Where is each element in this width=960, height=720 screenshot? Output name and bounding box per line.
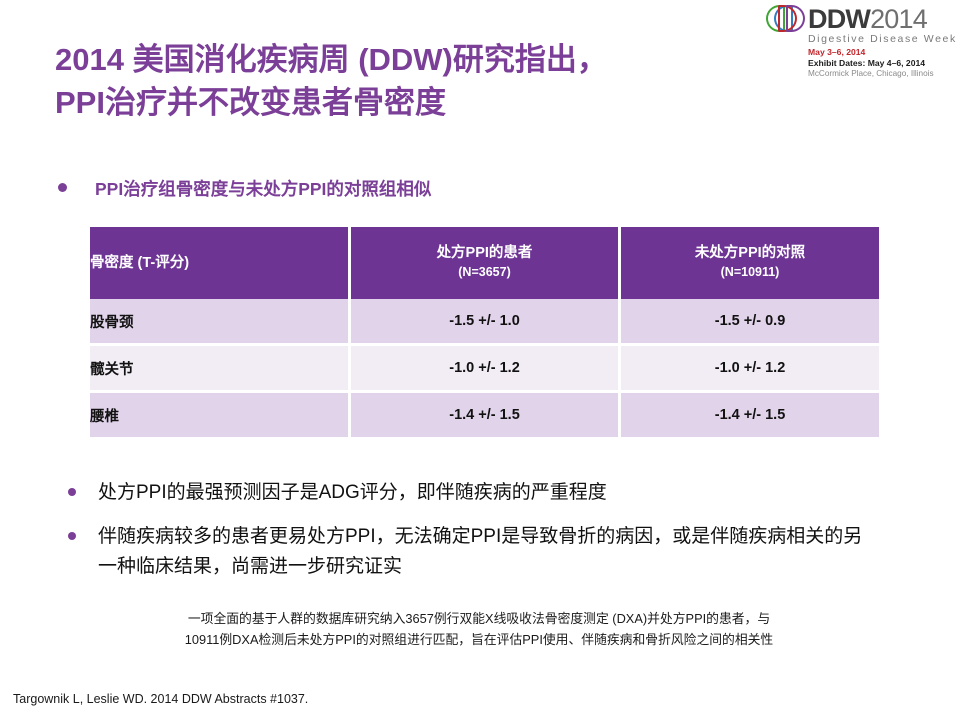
- ddw-logo: DDW2014 Digestive Disease Week May 3–6, …: [766, 4, 952, 70]
- table-header-ppi-n: (N=3657): [351, 263, 618, 282]
- table-row: 腰椎 -1.4 +/- 1.5 -1.4 +/- 1.5: [90, 392, 879, 438]
- logo-wordmark-main: DDW: [808, 4, 870, 34]
- footnote-line-2: 10911例DXA检测后未处方PPI的对照组进行匹配，旨在评估PPI使用、伴随疾…: [88, 629, 870, 650]
- top-bullet-label: PPI治疗组骨密度与未处方PPI的对照组相似: [95, 176, 431, 201]
- logo-top-row: DDW2014: [766, 4, 952, 34]
- page-title-line-1: 2014 美国消化疾病周 (DDW)研究指出，: [55, 38, 755, 81]
- table-cell-ppi: -1.4 +/- 1.5: [350, 392, 620, 438]
- logo-dates: May 3–6, 2014: [808, 47, 952, 57]
- table-row: 髋关节 -1.0 +/- 1.2 -1.0 +/- 1.2: [90, 345, 879, 392]
- table-header-cell-control: 未处方PPI的对照 (N=10911): [620, 227, 880, 299]
- table-body: 股骨颈 -1.5 +/- 1.0 -1.5 +/- 0.9 髋关节 -1.0 +…: [90, 299, 879, 437]
- logo-subtitle: Digestive Disease Week: [808, 33, 952, 45]
- table-header: 骨密度 (T-评分) 处方PPI的患者 (N=3657) 未处方PPI的对照 (…: [90, 227, 879, 299]
- table-header-control-label: 未处方PPI的对照: [621, 244, 879, 263]
- table-header-ppi-label: 处方PPI的患者: [351, 244, 618, 263]
- table-cell-control: -1.4 +/- 1.5: [620, 392, 880, 438]
- page-title-line-2: PPI治疗并不改变患者骨密度: [55, 81, 755, 124]
- lower-bullet-label: 伴随疾病较多的患者更易处方PPI，无法确定PPI是导致骨折的病因，或是伴随疾病相…: [98, 522, 878, 582]
- bmd-comparison-table: 骨密度 (T-评分) 处方PPI的患者 (N=3657) 未处方PPI的对照 (…: [90, 227, 879, 437]
- table-cell-control: -1.0 +/- 1.2: [620, 345, 880, 392]
- ddw-flower-mark-icon: [766, 5, 804, 33]
- table-header-cell-measure: 骨密度 (T-评分): [90, 227, 350, 299]
- bullet-dot-icon: [68, 532, 76, 540]
- page-title: 2014 美国消化疾病周 (DDW)研究指出， PPI治疗并不改变患者骨密度: [55, 38, 755, 124]
- table-header-control-n: (N=10911): [621, 263, 879, 282]
- top-bullet: PPI治疗组骨密度与未处方PPI的对照组相似: [58, 176, 431, 201]
- bullet-dot-icon: [68, 488, 76, 496]
- lower-bullet-label: 处方PPI的最强预测因子是ADG评分，即伴随疾病的严重程度: [98, 478, 607, 508]
- table-cell-measure: 腰椎: [90, 392, 350, 438]
- logo-wordmark-year: 2014: [870, 4, 927, 34]
- lower-bullet-list: 处方PPI的最强预测因子是ADG评分，即伴随疾病的严重程度 伴随疾病较多的患者更…: [68, 478, 878, 596]
- table-cell-measure: 股骨颈: [90, 299, 350, 345]
- table-cell-ppi: -1.0 +/- 1.2: [350, 345, 620, 392]
- table-header-cell-ppi: 处方PPI的患者 (N=3657): [350, 227, 620, 299]
- citation: Targownik L, Leslie WD. 2014 DDW Abstrac…: [13, 692, 308, 706]
- table-row: 股骨颈 -1.5 +/- 1.0 -1.5 +/- 0.9: [90, 299, 879, 345]
- logo-wordmark: DDW2014: [808, 5, 927, 33]
- table-header-row: 骨密度 (T-评分) 处方PPI的患者 (N=3657) 未处方PPI的对照 (…: [90, 227, 879, 299]
- list-item: 处方PPI的最强预测因子是ADG评分，即伴随疾病的严重程度: [68, 478, 878, 508]
- logo-place: McCormick Place, Chicago, Illinois: [808, 69, 952, 78]
- list-item: 伴随疾病较多的患者更易处方PPI，无法确定PPI是导致骨折的病因，或是伴随疾病相…: [68, 522, 878, 582]
- footnote: 一项全面的基于人群的数据库研究纳入3657例行双能X线吸收法骨密度测定 (DXA…: [88, 608, 870, 650]
- table-header-measure-label: 骨密度 (T-评分): [90, 254, 348, 273]
- footnote-line-1: 一项全面的基于人群的数据库研究纳入3657例行双能X线吸收法骨密度测定 (DXA…: [88, 608, 870, 629]
- table-cell-ppi: -1.5 +/- 1.0: [350, 299, 620, 345]
- bullet-dot-icon: [58, 183, 67, 192]
- logo-exhibit-dates: Exhibit Dates: May 4–6, 2014: [808, 58, 952, 68]
- table-cell-measure: 髋关节: [90, 345, 350, 392]
- table-cell-control: -1.5 +/- 0.9: [620, 299, 880, 345]
